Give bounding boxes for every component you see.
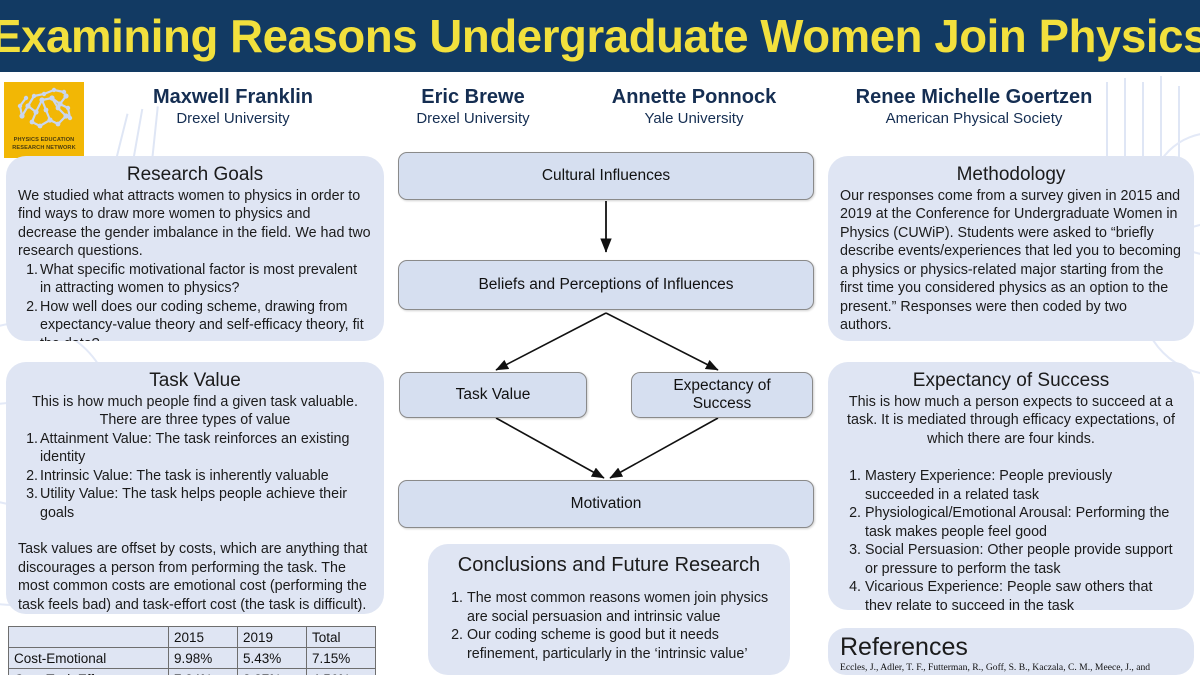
author-affiliation: Yale University xyxy=(588,109,800,129)
list-item: Vicarious Experience: People saw others … xyxy=(840,578,1182,610)
panel-body: This is how much a person expects to suc… xyxy=(840,393,1182,610)
methodology-body: Our responses come from a survey given i… xyxy=(840,187,1182,335)
panel-task-value: Task Value This is how much people find … xyxy=(6,362,384,614)
poster-title-bar: Examining Reasons Undergraduate Women Jo… xyxy=(0,0,1200,72)
expectancy-intro: This is how much a person expects to suc… xyxy=(840,393,1182,449)
panel-conclusions: Conclusions and Future Research The most… xyxy=(428,544,790,675)
logo-caption-line-1: PHYSICS EDUCATION xyxy=(12,136,75,144)
flow-node-label: Beliefs and Perceptions of Influences xyxy=(478,276,733,294)
cost-statistics-table: 2015 2019 Total Cost-Emotional 9.98% 5.4… xyxy=(8,626,376,675)
table-header-cell-label xyxy=(9,627,169,648)
flow-node-beliefs-and-perceptions[interactable]: Beliefs and Perceptions of Influences xyxy=(398,260,814,310)
flow-node-label-line-2: Success xyxy=(693,395,752,413)
panel-references: References Eccles, J., Adler, T. F., Fut… xyxy=(828,628,1194,675)
author-affiliation: Drexel University xyxy=(108,109,358,129)
flow-node-motivation[interactable]: Motivation xyxy=(398,480,814,528)
poster-canvas: Examining Reasons Undergraduate Women Jo… xyxy=(0,0,1200,675)
table-cell-total: 4.56% xyxy=(307,669,376,675)
references-title: References xyxy=(840,634,1182,660)
logo-caption: PHYSICS EDUCATION RESEARCH NETWORK xyxy=(12,136,75,158)
author-3: Renee Michelle Goertzen American Physica… xyxy=(812,86,1136,129)
list-item: The most common reasons women join physi… xyxy=(442,589,776,626)
table-header-row: 2015 2019 Total xyxy=(9,627,376,648)
list-item: Intrinsic Value: The task is inherently … xyxy=(18,467,372,486)
table-cell-total: 7.15% xyxy=(307,648,376,669)
table-header-cell-total: Total xyxy=(307,627,376,648)
panel-title: Conclusions and Future Research xyxy=(442,554,776,577)
table-row: Cost-Emotional 9.98% 5.43% 7.15% xyxy=(9,648,376,669)
table-cell-2015: 7.34% xyxy=(169,669,238,675)
author-affiliation: Drexel University xyxy=(382,109,564,129)
table-cell-label: Cost-Emotional xyxy=(9,648,169,669)
author-name: Annette Ponnock xyxy=(588,86,800,108)
author-list: Maxwell Franklin Drexel University Eric … xyxy=(96,86,1192,148)
author-1: Eric Brewe Drexel University xyxy=(370,86,576,129)
panel-body: We studied what attracts women to physic… xyxy=(18,187,372,341)
list-item: Attainment Value: The task reinforces an… xyxy=(18,430,372,467)
task-value-intro: This is how much people find a given tas… xyxy=(18,393,372,430)
expectancy-list: Mastery Experience: People previously su… xyxy=(840,467,1182,610)
list-item: What specific motivational factor is mos… xyxy=(18,261,372,298)
author-2: Annette Ponnock Yale University xyxy=(576,86,812,129)
logo-caption-line-2: RESEARCH NETWORK xyxy=(12,144,75,152)
list-item: Social Persuasion: Other people provide … xyxy=(840,541,1182,578)
panel-methodology: Methodology Our responses come from a su… xyxy=(828,156,1194,341)
conclusions-list: The most common reasons women join physi… xyxy=(442,589,776,663)
organization-logo: PHYSICS EDUCATION RESEARCH NETWORK xyxy=(4,82,84,158)
panel-body: The most common reasons women join physi… xyxy=(442,589,776,663)
table-header-cell-2015: 2015 xyxy=(169,627,238,648)
author-name: Eric Brewe xyxy=(382,86,564,108)
research-goals-list: What specific motivational factor is mos… xyxy=(18,261,372,341)
table-row: Cost-Task Effort 7.34% 2.87% 4.56% xyxy=(9,669,376,675)
research-goals-intro: We studied what attracts women to physic… xyxy=(18,187,372,261)
task-value-list: Attainment Value: The task reinforces an… xyxy=(18,430,372,523)
panel-body: Our responses come from a survey given i… xyxy=(840,187,1182,335)
list-item: How well does our coding scheme, drawing… xyxy=(18,298,372,341)
list-item: Mastery Experience: People previously su… xyxy=(840,467,1182,504)
table-cell-2019: 5.43% xyxy=(238,648,307,669)
author-affiliation: American Physical Society xyxy=(824,109,1124,129)
flow-node-label: Motivation xyxy=(571,495,642,513)
flow-node-task-value[interactable]: Task Value xyxy=(399,372,587,418)
panel-title: Methodology xyxy=(840,164,1182,186)
task-value-outro: Task values are offset by costs, which a… xyxy=(18,540,372,614)
author-0: Maxwell Franklin Drexel University xyxy=(96,86,370,129)
table-header-cell-2019: 2019 xyxy=(238,627,307,648)
panel-expectancy-of-success: Expectancy of Success This is how much a… xyxy=(828,362,1194,610)
author-name: Renee Michelle Goertzen xyxy=(824,86,1124,108)
panel-body: This is how much people find a given tas… xyxy=(18,393,372,614)
list-item: Our coding scheme is good but it needs r… xyxy=(442,626,776,663)
list-item: Utility Value: The task helps people ach… xyxy=(18,485,372,522)
panel-title: Research Goals xyxy=(18,164,372,186)
page-title: Examining Reasons Undergraduate Women Jo… xyxy=(0,13,1200,59)
panel-title: Task Value xyxy=(18,370,372,392)
flow-node-label: Cultural Influences xyxy=(542,167,670,185)
flow-node-label-line-1: Expectancy of xyxy=(673,377,770,395)
table-cell-label: Cost-Task Effort xyxy=(9,669,169,675)
flow-node-expectancy-of-success[interactable]: Expectancy of Success xyxy=(631,372,813,418)
panel-title: Expectancy of Success xyxy=(840,370,1182,392)
theoretical-framework-flowchart: Cultural Influences Beliefs and Percepti… xyxy=(396,148,816,528)
author-name: Maxwell Franklin xyxy=(108,86,358,108)
reference-entry: Eccles, J., Adler, T. F., Futterman, R.,… xyxy=(840,662,1182,674)
list-item: Physiological/Emotional Arousal: Perform… xyxy=(840,504,1182,541)
flow-node-cultural-influences[interactable]: Cultural Influences xyxy=(398,152,814,200)
flowchart-arrows xyxy=(396,148,816,528)
flow-node-label: Task Value xyxy=(456,386,531,404)
table-cell-2015: 9.98% xyxy=(169,648,238,669)
table-cell-2019: 2.87% xyxy=(238,669,307,675)
panel-research-goals: Research Goals We studied what attracts … xyxy=(6,156,384,341)
network-graphic-icon xyxy=(12,86,76,132)
